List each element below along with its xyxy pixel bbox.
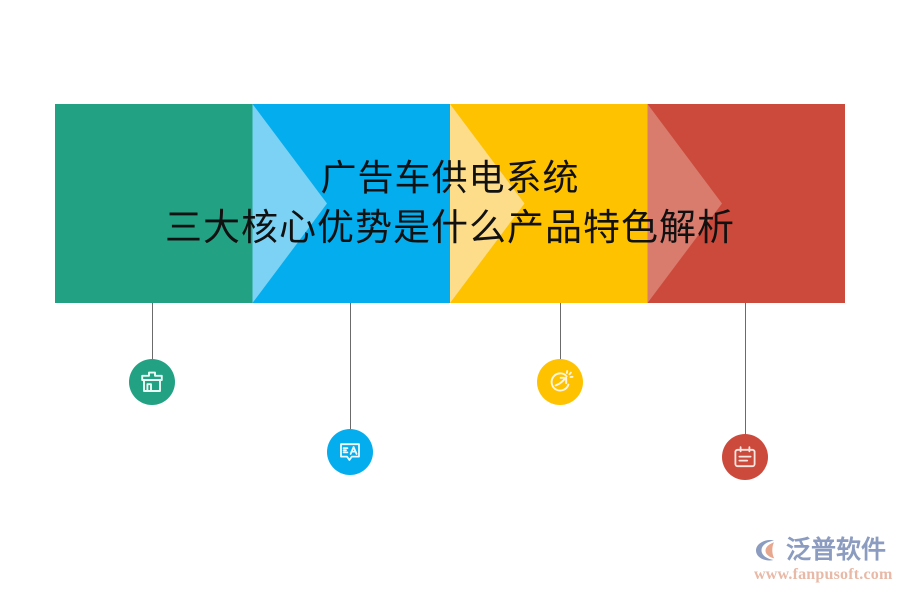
connector-line-2 bbox=[350, 303, 351, 430]
infographic-canvas: 广告车供电系统 三大核心优势是什么产品特色解析 bbox=[0, 0, 900, 600]
icon-node-shop[interactable] bbox=[129, 359, 175, 405]
watermark-brand-row: 泛普软件 bbox=[752, 533, 886, 567]
watermark-url: www.fanpusoft.com bbox=[754, 566, 893, 584]
icon-node-speed-boost[interactable] bbox=[537, 359, 583, 405]
watermark-brand-name: 泛普软件 bbox=[786, 535, 886, 565]
connector-line-4 bbox=[745, 303, 746, 435]
speed-boost-icon bbox=[547, 369, 574, 396]
watermark: 泛普软件 www.fanpusoft.com bbox=[752, 533, 892, 589]
banner-segment-teal bbox=[55, 104, 253, 303]
fanpu-logo-icon bbox=[752, 535, 782, 565]
connector-line-1 bbox=[152, 303, 153, 360]
icon-node-calendar-note[interactable] bbox=[722, 434, 768, 480]
translate-icon bbox=[337, 439, 363, 465]
calendar-note-icon bbox=[732, 444, 758, 470]
shop-icon bbox=[139, 369, 165, 395]
chevron-banner bbox=[55, 104, 845, 303]
connector-line-3 bbox=[560, 303, 561, 360]
icon-node-translate[interactable] bbox=[327, 429, 373, 475]
